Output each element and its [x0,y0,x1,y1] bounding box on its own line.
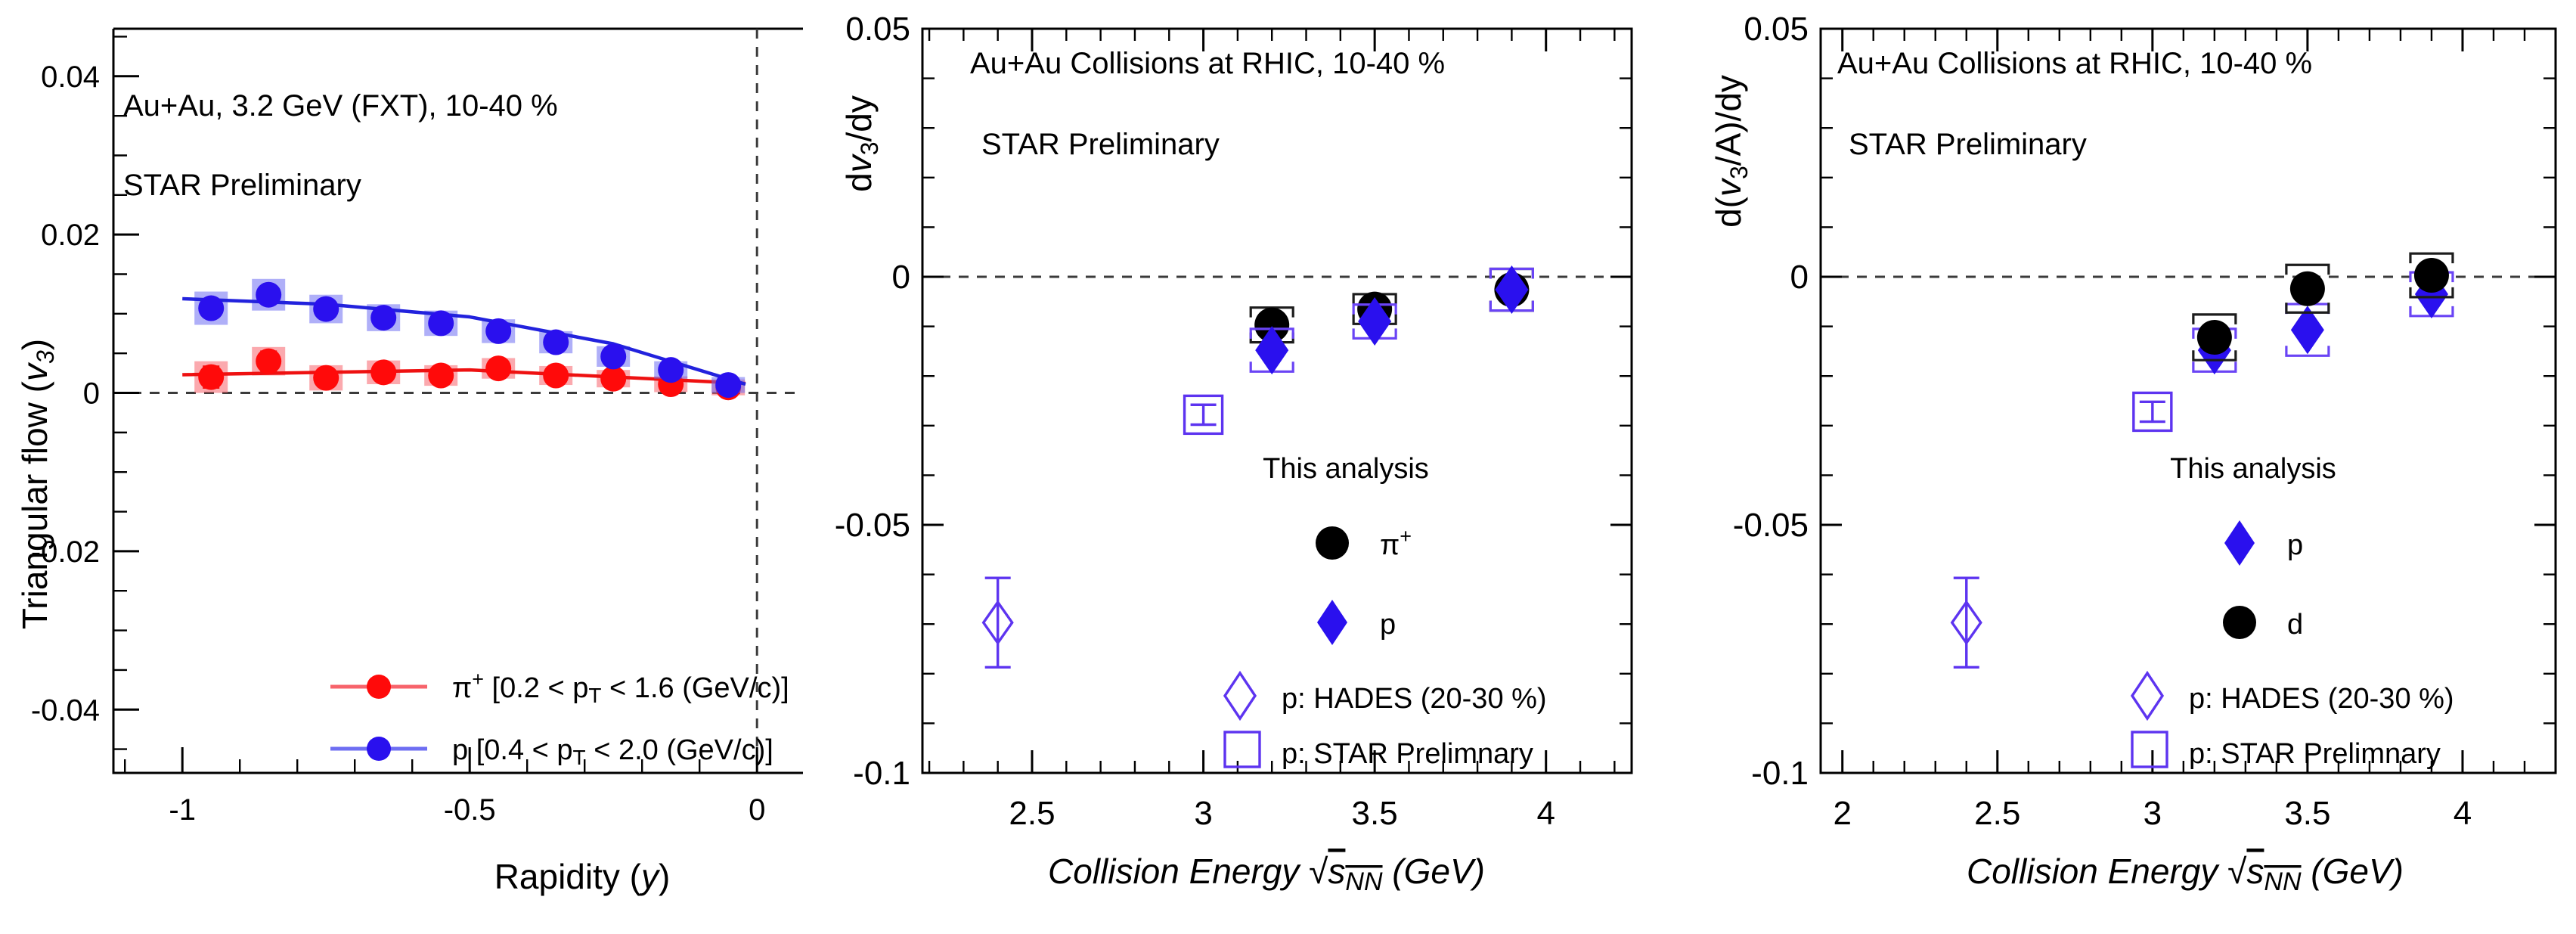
left-x-title-main: Rapidity ( [494,857,642,896]
right-x-title-s: s [2246,852,2264,891]
mid-legend-label-pion: π+ [1380,525,1412,561]
left-xtick-label: -0.5 [444,793,496,827]
mid-legend-title: This analysis [1263,453,1429,485]
right-legend-marker-proton [2224,520,2255,566]
left-ytick-label: 0 [83,377,100,411]
data-point-marker [600,343,626,369]
legend-marker-pion [367,675,391,699]
figure-root: 0.040.020-0.02-0.04-1-0.50 Triangular fl… [0,0,2576,934]
data-point-marker [428,363,454,389]
data-point-marker [485,318,511,344]
right-x-axis-title: Collision Energy √sNN (GeV) [1967,852,2404,896]
right-legend-label-star: p: STAR Prelimnary [2189,738,2441,770]
data-point-marker [485,355,511,381]
left-x-axis-title: Rapidity (y) [494,857,671,896]
left-annotation-0: Au+Au, 3.2 GeV (FXT), 10-40 % [123,89,558,123]
legend-marker-proton [367,737,391,761]
right-x-title-post: (GeV) [2302,852,2404,891]
left-legend-label-proton: p [0.4 < pT < 2.0 (GeV/c)] [452,734,773,769]
right-legend-label-proton: p [2287,529,2303,561]
mid-panel-svg: 0.050-0.05-0.12.533.54 dv3/dy Collision … [817,0,1656,934]
right-legend-marker-deuteron [2223,606,2256,639]
mid-legend-label-star: p: STAR Prelimnary [1282,738,1533,770]
ytick-label: -0.05 [835,507,910,544]
left-legend: π+ [0.2 < pT < 1.6 (GeV/c)] p [0.4 < pT … [330,668,789,769]
data-point-marker [198,365,224,390]
sqrt-glyph: √ [1309,852,1328,891]
data-point-marker-circle [2197,320,2232,355]
mid-legend-marker-proton [1317,600,1347,645]
data-point-marker [313,296,339,322]
data-point-marker-diamond [1495,265,1528,314]
data-point-marker [370,359,396,385]
xtick-label: 4 [2454,795,2472,832]
panel-dv3A-dy-vs-energy: 0.050-0.05-0.122.533.54 d(v3/A)/dy Colli… [1694,0,2576,934]
right-legend-marker-star [2132,732,2167,767]
mid-annotation-1: STAR Preliminary [981,128,1220,161]
right-panel-svg: 0.050-0.05-0.122.533.54 d(v3/A)/dy Colli… [1694,0,2576,934]
ytick-label: 0.05 [1744,11,1809,48]
data-point-marker [198,296,224,321]
xtick-label: 3.5 [1352,795,1398,832]
panel-dv3dy-vs-energy: 0.050-0.05-0.12.533.54 dv3/dy Collision … [817,0,1656,934]
left-axis-frame [113,29,803,773]
right-annotation-1: STAR Preliminary [1849,128,2087,161]
left-y-title-main: Triangular flow ( [15,380,54,629]
xtick-label: 3 [1194,795,1212,832]
mid-x-axis-title: Collision Energy √sNN (GeV) [1048,852,1485,896]
ytick-label: 0 [892,259,910,296]
left-ytick-label: 0.04 [41,61,100,94]
right-y-title-sub: 3 [1725,166,1753,179]
data-point-marker-circle [2414,258,2449,293]
right-y-title-pre: d( [1709,196,1748,228]
xtick-label: 2.5 [1974,795,2020,832]
left-y-title-tail: ) [15,339,54,350]
data-point-marker [600,366,626,392]
xtick-label: 2.5 [1009,795,1055,832]
left-legend-label-pion: π+ [0.2 < pT < 1.6 (GeV/c)] [452,668,789,707]
left-ytick-label: -0.04 [31,694,100,727]
left-xtick-label: -1 [169,793,196,827]
left-y-title-sub: 3 [32,350,59,364]
ytick-label: -0.05 [1733,507,1809,544]
panel-triangular-flow-vs-rapidity: 0.040.020-0.02-0.04-1-0.50 Triangular fl… [0,0,817,934]
mid-legend-label-proton: p [1380,609,1396,641]
data-point-marker [543,330,569,355]
data-point-marker [658,357,684,383]
right-legend: This analysis p d p: HADES (20-30 %) p: … [2132,453,2454,770]
xtick-label: 4 [1536,795,1555,832]
mid-legend-marker-hades [1225,673,1255,718]
right-y-axis-title: d(v3/A)/dy [1709,75,1753,228]
mid-y-axis-title: dv3/dy [839,95,883,192]
left-y-axis-title: Triangular flow (v3) [15,339,59,629]
xtick-label: 3.5 [2284,795,2330,832]
right-y-title-mid: /A)/dy [1709,75,1748,166]
mid-x-title-s: s [1328,852,1345,891]
xtick-label: 2 [1833,795,1851,832]
mid-x-title-nn: NN [1345,867,1383,896]
mid-legend-marker-pion [1316,526,1349,560]
right-legend-marker-hades [2132,673,2162,718]
mid-x-title-post: (GeV) [1383,852,1485,891]
ytick-label: 0.05 [845,11,910,48]
left-x-title-sym: y [639,857,661,896]
mid-legend-label-hades: p: HADES (20-30 %) [1282,683,1547,715]
data-point-marker [313,365,339,391]
mid-x-title-pre: Collision Energy [1048,852,1309,891]
right-x-title-pre: Collision Energy [1967,852,2227,891]
right-legend-title: This analysis [2170,453,2336,485]
left-ytick-label: 0.02 [41,219,100,252]
right-annotation-0: Au+Au Collisions at RHIC, 10-40 % [1837,47,2312,80]
data-point-marker [543,363,569,389]
xtick-label: 3 [2144,795,2162,832]
sqrt-glyph-right: √ [2227,852,2247,891]
ytick-label: -0.1 [1751,755,1809,792]
data-point-marker [256,282,281,308]
ytick-label: 0 [1790,259,1809,296]
data-point-marker [256,349,281,374]
right-x-title-nn: NN [2264,867,2302,896]
left-legend-item-pion: π+ [0.2 < pT < 1.6 (GeV/c)] [330,668,789,707]
mid-y-title-post: /dy [839,95,879,141]
left-xtick-label: 0 [749,793,765,827]
mid-annotation-0: Au+Au Collisions at RHIC, 10-40 % [970,47,1445,80]
left-panel-svg: 0.040.020-0.02-0.04-1-0.50 Triangular fl… [0,0,817,934]
mid-legend: This analysis π+ p p: HADES (20-30 %) p:… [1225,453,1547,770]
left-legend-item-proton: p [0.4 < pT < 2.0 (GeV/c)] [330,734,773,769]
ytick-label: -0.1 [853,755,910,792]
data-point-marker [428,310,454,336]
left-annotation-1: STAR Preliminary [123,169,361,202]
left-x-title-tail: ) [659,857,670,896]
mid-legend-marker-star [1225,732,1260,767]
mid-y-title-sub: 3 [856,141,883,155]
mid-y-title-pre: d [839,172,879,192]
data-point-marker [715,372,741,398]
data-point-marker [370,305,396,330]
right-legend-label-deuteron: d [2287,609,2303,641]
right-legend-label-hades: p: HADES (20-30 %) [2189,683,2454,715]
data-point-marker-circle [2290,272,2325,306]
